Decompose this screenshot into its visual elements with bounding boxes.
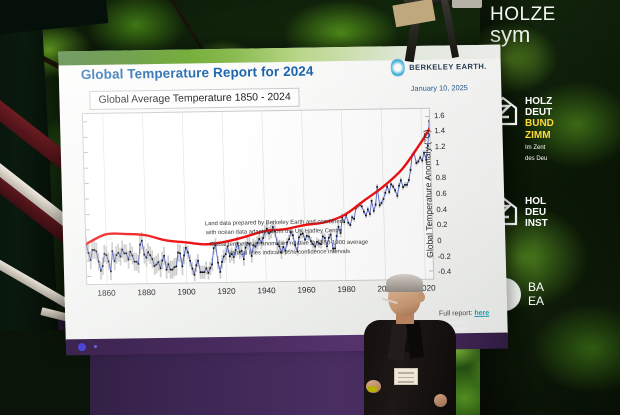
rig-light-box bbox=[452, 0, 482, 8]
banner-line: ZIMM bbox=[525, 130, 551, 141]
banner-line: BA bbox=[528, 280, 544, 294]
x-tick-label: 1860 bbox=[97, 289, 115, 298]
banner-item-2-text: HOL DEU INST bbox=[525, 196, 548, 230]
banner-subline: des Deu bbox=[525, 156, 547, 162]
x-tick-label: 1900 bbox=[177, 287, 195, 296]
banner-line: HOLZ bbox=[525, 96, 552, 107]
presenter-hair bbox=[386, 274, 423, 292]
event-title-banner: HOLZE sym bbox=[490, 4, 556, 48]
overhead-camera-rig bbox=[398, 0, 484, 64]
banner-line: HOL bbox=[525, 196, 546, 207]
presenter-figure bbox=[360, 276, 468, 415]
footer-dot-icon bbox=[94, 345, 97, 348]
x-tick-label: 1960 bbox=[297, 285, 315, 294]
full-report-link[interactable]: here bbox=[474, 310, 489, 317]
presenter-ear bbox=[418, 292, 425, 302]
banner-item-1-text: HOLZ DEUT BUND ZIMM Im Zent des Deu bbox=[525, 96, 554, 163]
banner-line: EA bbox=[528, 294, 544, 308]
banner-subline: Im Zent bbox=[525, 145, 545, 151]
stage-scene: HOLZE sym HOLZ DEUT BUND ZIMM Im Zent de… bbox=[0, 0, 620, 415]
x-tick-label: 1920 bbox=[217, 287, 235, 296]
banner-line: DEU bbox=[525, 207, 546, 218]
rig-panel bbox=[392, 0, 435, 27]
rig-arm bbox=[440, 0, 459, 58]
name-badge bbox=[394, 368, 418, 385]
y-axis-label-text: Global Temperature Anomaly (°C) bbox=[421, 129, 434, 258]
slide-title: Global Temperature Report for 2024 bbox=[81, 64, 314, 83]
x-tick-label: 1880 bbox=[137, 288, 155, 297]
y-axis-label: Global Temperature Anomaly (°C) bbox=[361, 85, 495, 303]
presentation-clicker bbox=[368, 386, 377, 392]
chart-annotation-source: Land data prepared by Berkeley Earth and… bbox=[205, 218, 344, 237]
banner-item-3-text: BA EA bbox=[528, 281, 544, 308]
footer-dot-icon bbox=[78, 343, 86, 351]
presenter-hand bbox=[434, 394, 447, 407]
banner-line: INST bbox=[525, 218, 548, 229]
x-tick-label: 1980 bbox=[337, 285, 355, 294]
temperature-chart: Global Average Temperature 1850 - 2024 1… bbox=[81, 86, 435, 307]
chart-annotation-method: Global temperature anomalies relative to… bbox=[209, 239, 368, 259]
banner-line: DEUT bbox=[525, 107, 552, 118]
x-tick-label: 1940 bbox=[257, 286, 275, 295]
chart-title: Global Average Temperature 1850 - 2024 bbox=[89, 88, 300, 110]
banner-line: BUND bbox=[525, 118, 554, 129]
